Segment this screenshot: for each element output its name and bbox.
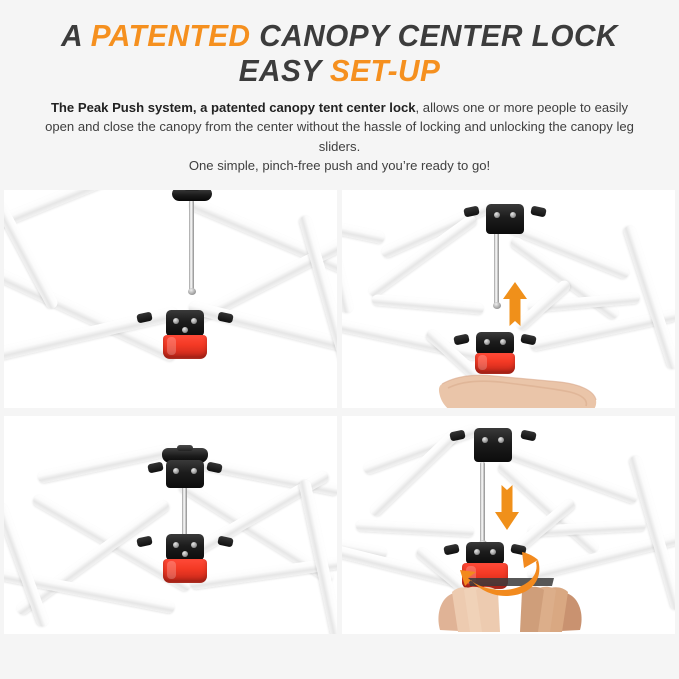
top-lock-hub <box>460 428 526 468</box>
canopy-tube <box>368 428 461 519</box>
canopy-tube <box>4 190 173 231</box>
hub-wing-left <box>449 430 466 442</box>
hub-bolt <box>191 542 197 548</box>
hub-bolt <box>173 468 179 474</box>
center-lock-hub <box>147 310 223 366</box>
arrow-down-icon <box>494 478 520 530</box>
hub-body <box>166 310 204 336</box>
hub-wing-left <box>147 462 164 474</box>
footer-spacer <box>0 634 679 679</box>
hub-wing-left <box>453 334 470 346</box>
canopy-scene-hand-push-up <box>342 190 675 408</box>
hub-wing-right <box>520 334 537 346</box>
panel-top-left <box>4 190 337 408</box>
panel-top-right <box>342 190 675 408</box>
hub-wing-right <box>217 312 234 324</box>
hand-open-palm <box>438 366 598 408</box>
canopy-top-cap <box>172 190 212 201</box>
hub-bolt <box>484 339 490 345</box>
hub-wing-right <box>520 430 537 442</box>
hub-bolt <box>500 339 506 345</box>
hub-wing-left <box>136 536 153 548</box>
product-feature-page: A PATENTED CANOPY CENTER LOCK EASY SET-U… <box>0 0 679 679</box>
canopy-scene-open-frame <box>4 190 337 408</box>
hub-body <box>166 534 204 560</box>
center-lock-hub <box>147 534 223 590</box>
hub-body <box>486 204 524 234</box>
canopy-scene-closing <box>4 416 337 634</box>
arrow-up-icon <box>502 282 528 332</box>
canopy-tube <box>356 520 474 537</box>
chrome-push-rod <box>480 462 485 544</box>
chrome-push-rod <box>189 200 194 292</box>
header: A PATENTED CANOPY CENTER LOCK EASY SET-U… <box>0 0 679 175</box>
hub-wing-right <box>530 206 547 218</box>
panel-bottom-left <box>4 416 337 634</box>
hub-body <box>166 460 204 488</box>
title-highlight-setup: SET-UP <box>330 53 440 88</box>
hub-bolt <box>498 437 504 443</box>
panel-bottom-right <box>342 416 675 634</box>
description-bold-lead: The Peak Push system, a patented canopy … <box>51 100 416 115</box>
title-text-pre: A <box>61 18 91 53</box>
canopy-scene-two-hands-pull-down <box>342 416 675 634</box>
hub-bolt <box>182 551 188 557</box>
top-lock-hub <box>154 460 216 492</box>
hub-body <box>474 428 512 462</box>
description-closing-line: One simple, pinch-free push and you’re r… <box>189 158 490 173</box>
hub-bolt <box>173 318 179 324</box>
hub-bolt <box>173 542 179 548</box>
hub-bolt <box>494 212 500 218</box>
hub-wing-right <box>217 536 234 548</box>
canopy-tube <box>628 454 675 611</box>
canopy-tube <box>372 294 485 315</box>
hub-wing-left <box>463 206 480 218</box>
title-highlight-patented: PATENTED <box>91 18 251 53</box>
hub-red-cylinder <box>163 335 207 359</box>
hub-bolt <box>191 318 197 324</box>
canopy-tube <box>342 218 386 244</box>
top-lock-hub <box>474 204 536 240</box>
product-photo-grid <box>0 190 679 634</box>
canopy-tube <box>342 205 354 315</box>
page-title-line-1: A PATENTED CANOPY CENTER LOCK <box>35 18 645 55</box>
arrow-curved-rotate-icon <box>460 548 542 598</box>
hub-bolt <box>182 327 188 333</box>
hub-wing-left <box>136 312 153 324</box>
hub-wing-right <box>206 462 223 474</box>
hub-red-cylinder <box>163 559 207 583</box>
hub-wing-left <box>443 544 460 556</box>
hub-bolt <box>191 468 197 474</box>
hub-bolt <box>482 437 488 443</box>
hub-bolt <box>510 212 516 218</box>
page-title-line-2: EASY SET-UP <box>35 53 645 90</box>
description-paragraph: The Peak Push system, a patented canopy … <box>40 98 640 175</box>
title-text-post: CANOPY CENTER LOCK <box>251 18 618 53</box>
hub-body <box>476 332 514 354</box>
title-text-easy: EASY <box>239 53 330 88</box>
chrome-push-rod <box>494 232 499 306</box>
